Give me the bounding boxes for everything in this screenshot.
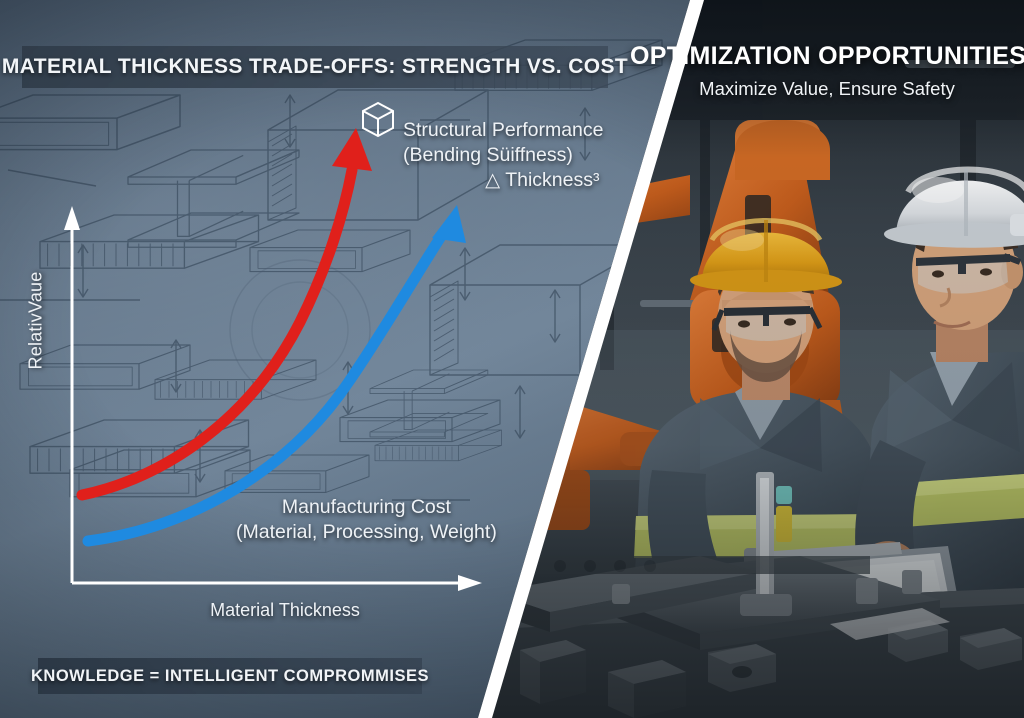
y-axis-label: RelativVaue [26,261,47,381]
performance-annotation-line2: (Bending Süiffness) [403,144,573,166]
performance-annotation: Structural Performance (Bending Süiffnes… [403,118,604,193]
cost-annotation-line1: Manufacturing Cost [282,496,451,518]
infographic-canvas: MATERIAL THICKNESS TRADE-OFFS: STRENGTH … [0,0,1024,718]
photo-title: OPTIMIZATION OPPORTUNITIES [630,42,1024,71]
chart-title: MATERIAL THICKNESS TRADE-OFFS: STRENGTH … [22,46,608,88]
cost-curve [88,205,466,541]
x-axis-label: Material Thickness [180,600,390,621]
performance-curve [82,128,372,495]
y-axis [64,206,80,583]
x-axis [72,575,482,591]
cost-annotation-line2: (Material, Processing, Weight) [236,521,497,543]
performance-annotation-line1: Structural Performance [403,119,604,141]
footer-text: KNOWLEDGE = INTELLIGENT COMPROMMISES [38,658,422,694]
cost-annotation: Manufacturing Cost (Material, Processing… [236,495,497,545]
wireframe-cube-icon [363,103,393,136]
photo-subtitle: Maximize Value, Ensure Safety [630,78,1024,100]
performance-annotation-line3: △ Thickness³ [403,168,604,193]
